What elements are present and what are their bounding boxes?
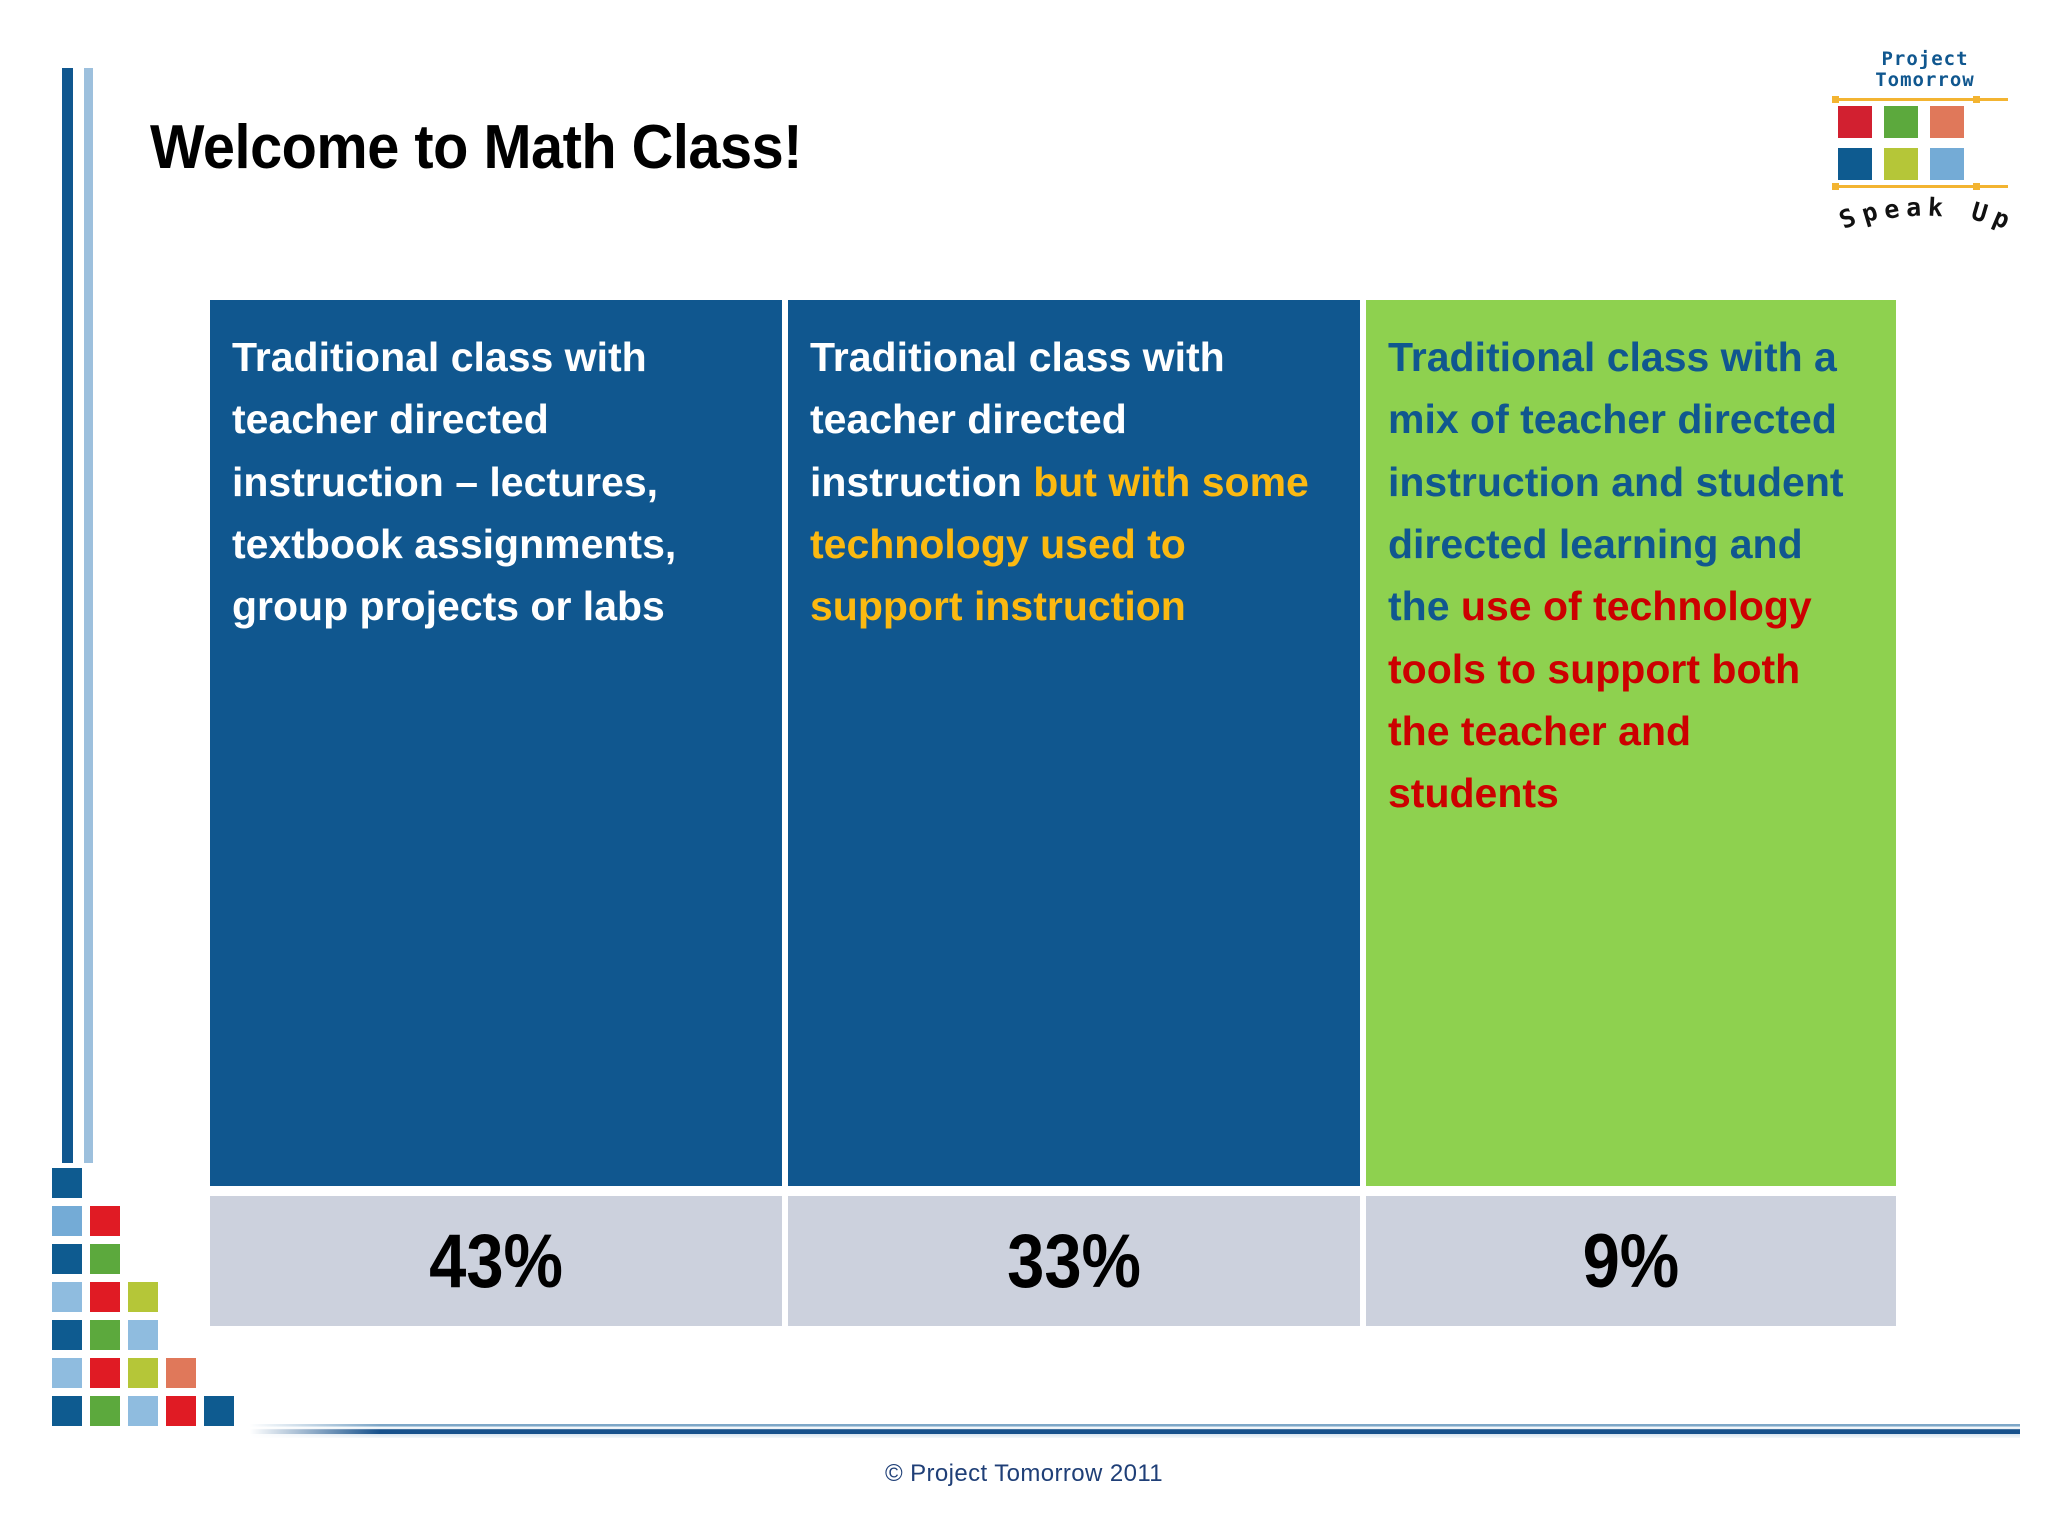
logo-line-2: Tomorrow (1830, 69, 2020, 91)
speak-up-letter: p (1989, 202, 2014, 235)
percent-value-traditional: 43% (210, 1196, 782, 1326)
speak-up-letter: p (1858, 197, 1881, 229)
logo-rule-bottom (1836, 185, 2008, 188)
staircase-square (52, 1206, 82, 1236)
speak-up-letter: a (1905, 192, 1922, 222)
staircase-square (128, 1358, 158, 1388)
staircase-square (52, 1282, 82, 1312)
staircase-square (128, 1282, 158, 1312)
speak-up-letter: e (1882, 194, 1902, 225)
staircase-square (90, 1320, 120, 1350)
table-cell-text-segment: Traditional class with teacher directed … (232, 334, 676, 629)
logo-square-lightblue (1930, 148, 1964, 180)
logo-square-red (1838, 106, 1872, 138)
staircase-square (90, 1206, 120, 1236)
staircase-square (52, 1244, 82, 1274)
speak-up-wordmark: SpeakUp (1832, 190, 2022, 232)
logo-square-green (1884, 106, 1918, 138)
staircase-square (52, 1320, 82, 1350)
table-cell-traditional-with-tech: Traditional class with teacher directed … (788, 300, 1360, 1186)
logo-dot-bottom-left (1832, 183, 1839, 190)
logo-square-yellowgreen (1884, 148, 1918, 180)
footer-copyright: © Project Tomorrow 2011 (0, 1460, 2048, 1488)
left-vertical-rule-dark (62, 68, 73, 1163)
staircase-square (204, 1396, 234, 1426)
table-cell-mixed: Traditional class with a mix of teacher … (1366, 300, 1896, 1186)
page-title: Welcome to Math Class! (150, 112, 802, 183)
logo-dot-top-left (1832, 96, 1839, 103)
speak-up-letter: S (1835, 202, 1860, 235)
left-vertical-rule-light (84, 68, 93, 1163)
percent-value-traditional-with-tech: 33% (788, 1196, 1360, 1326)
staircase-square (166, 1358, 196, 1388)
project-tomorrow-logo: Project Tomorrow SpeakUp (1830, 48, 2020, 233)
speak-up-letter: U (1968, 197, 1991, 229)
staircase-square (90, 1396, 120, 1426)
logo-line-1: Project (1830, 48, 2020, 70)
speak-up-letter: k (1927, 192, 1944, 222)
logo-dot-top-right (1973, 96, 1980, 103)
staircase-square (166, 1396, 196, 1426)
staircase-square (52, 1358, 82, 1388)
staircase-square (128, 1320, 158, 1350)
logo-square-salmon (1930, 106, 1964, 138)
table-cell-traditional: Traditional class with teacher directed … (210, 300, 782, 1186)
table-row-percentages: 43% 33% 9% (210, 1196, 1896, 1326)
staircase-square (52, 1396, 82, 1426)
staircase-square (52, 1168, 82, 1198)
logo-square-grid (1838, 106, 1966, 182)
logo-square-blue (1838, 148, 1872, 180)
staircase-square (90, 1358, 120, 1388)
staircase-square (128, 1396, 158, 1426)
comparison-table: Traditional class with teacher directed … (210, 300, 1896, 1326)
staircase-square (90, 1282, 120, 1312)
table-row-descriptions: Traditional class with teacher directed … (210, 300, 1896, 1186)
percent-value-mixed: 9% (1366, 1196, 1896, 1326)
logo-rule-top (1836, 98, 2008, 101)
footer-divider-bar (250, 1424, 2020, 1438)
logo-dot-bottom-right (1973, 183, 1980, 190)
staircase-square (90, 1244, 120, 1274)
